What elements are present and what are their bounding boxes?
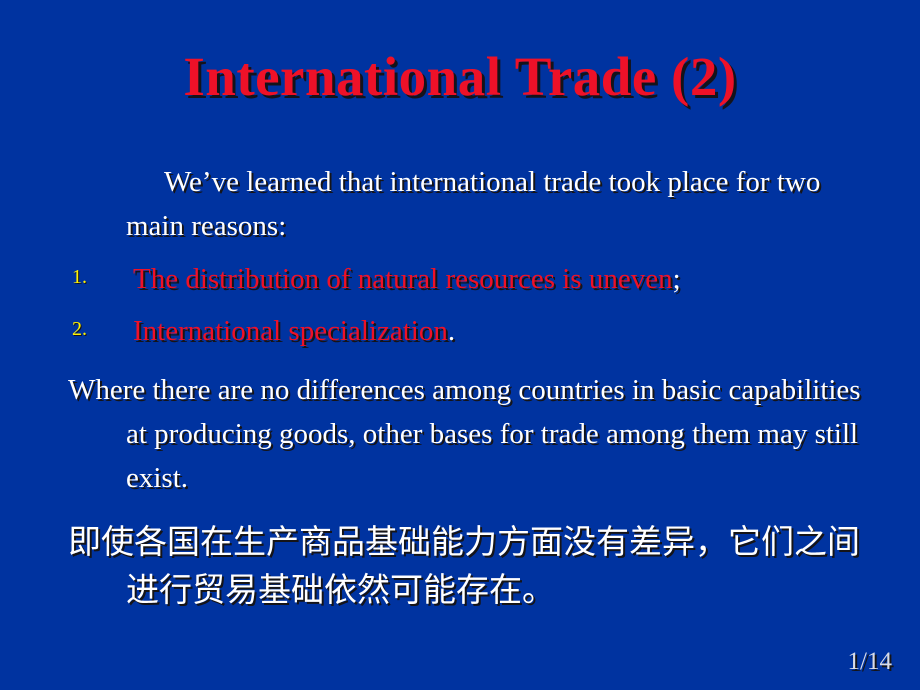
- list-item-punctuation: .: [448, 315, 455, 347]
- chinese-paragraph: 即使各国在生产商品基础能力方面没有差异，它们之间进行贸易基础依然可能存在。: [68, 520, 868, 616]
- slide-body: We’ve learned that international trade t…: [68, 160, 868, 616]
- intro-paragraph-text: We’ve learned that international trade t…: [126, 166, 820, 242]
- list-item: 2.International specialization.: [68, 310, 868, 354]
- list-item-text: The distribution of natural resources is…: [133, 263, 673, 295]
- slide: International Trade (2) We’ve learned th…: [0, 0, 920, 690]
- list-item-punctuation: ;: [673, 263, 681, 295]
- list-item-number: 2.: [72, 314, 87, 344]
- list-item-text: International specialization: [133, 315, 448, 347]
- list-item: 1.The distribution of natural resources …: [68, 258, 868, 302]
- body-paragraph: Where there are no differences among cou…: [68, 368, 868, 500]
- reasons-list: 1.The distribution of natural resources …: [68, 258, 868, 354]
- slide-title: International Trade (2): [0, 48, 920, 106]
- page-number: 1/14: [848, 648, 892, 676]
- list-item-number: 1.: [72, 262, 87, 292]
- intro-paragraph: We’ve learned that international trade t…: [68, 160, 868, 248]
